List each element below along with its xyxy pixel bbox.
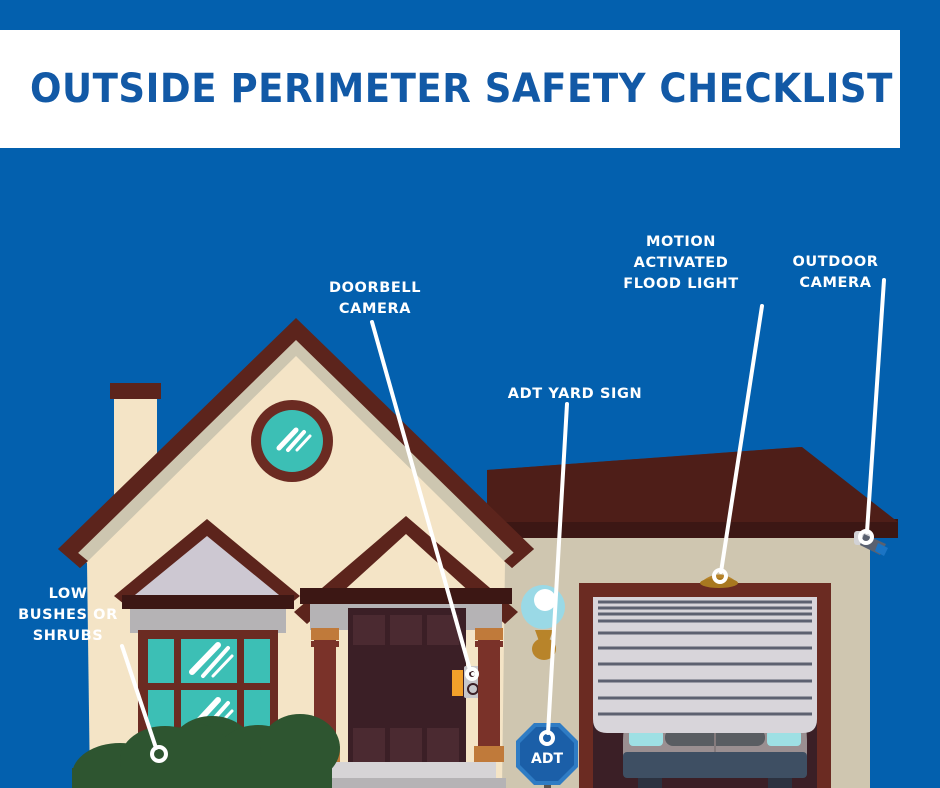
front-step-bottom [308,778,506,788]
bay-window-pane [244,639,270,683]
door-panel [427,728,459,762]
label-adt-yard-sign: ADT YARD SIGN [505,384,645,405]
bay-window-header-grey [130,609,286,633]
door-panel [353,728,385,762]
door-panel [353,615,385,645]
page-title: OUTSIDE PERIMETER SAFETY CHECKLIST [30,30,906,148]
portico-header-dark [300,588,512,604]
infographic-poster: ADT LOW BUSHES OR SHRUBS DOORBELL CAMERA… [0,0,940,788]
garage [579,583,831,788]
chimney-cap [110,383,161,399]
label-motion-activated-flood-light: MOTION ACTIVATED FLOOD LIGHT [616,232,746,295]
door-panel [390,615,422,645]
car-wheel-left [638,778,662,788]
doorbell-camera-lens-highlight [471,672,475,676]
label-outdoor-camera: OUTDOOR CAMERA [778,252,893,294]
front-step-top [318,762,496,778]
adt-sign-text: ADT [531,751,563,767]
round-attic-window-glass [261,410,323,472]
column-neck-left [311,641,339,647]
wall-lamp-bulb [534,589,556,611]
label-doorbell-camera: DOORBELL CAMERA [300,278,450,320]
garage-door [593,597,817,733]
column-capital-right [475,628,503,640]
column-capital-left [311,628,339,640]
door-panel [390,728,422,762]
car-bumper [623,752,807,778]
portico-column-right [478,630,500,760]
column-neck-right [475,641,503,647]
bay-window-pane [148,639,174,683]
door-handle [452,670,463,696]
label-low-bushes-or-shrubs: LOW BUSHES OR SHRUBS [8,584,128,647]
title-banner: OUTSIDE PERIMETER SAFETY CHECKLIST [0,30,900,148]
column-base-right [474,746,504,762]
car-wheel-right [768,778,792,788]
bay-window-header-dark [122,595,294,609]
